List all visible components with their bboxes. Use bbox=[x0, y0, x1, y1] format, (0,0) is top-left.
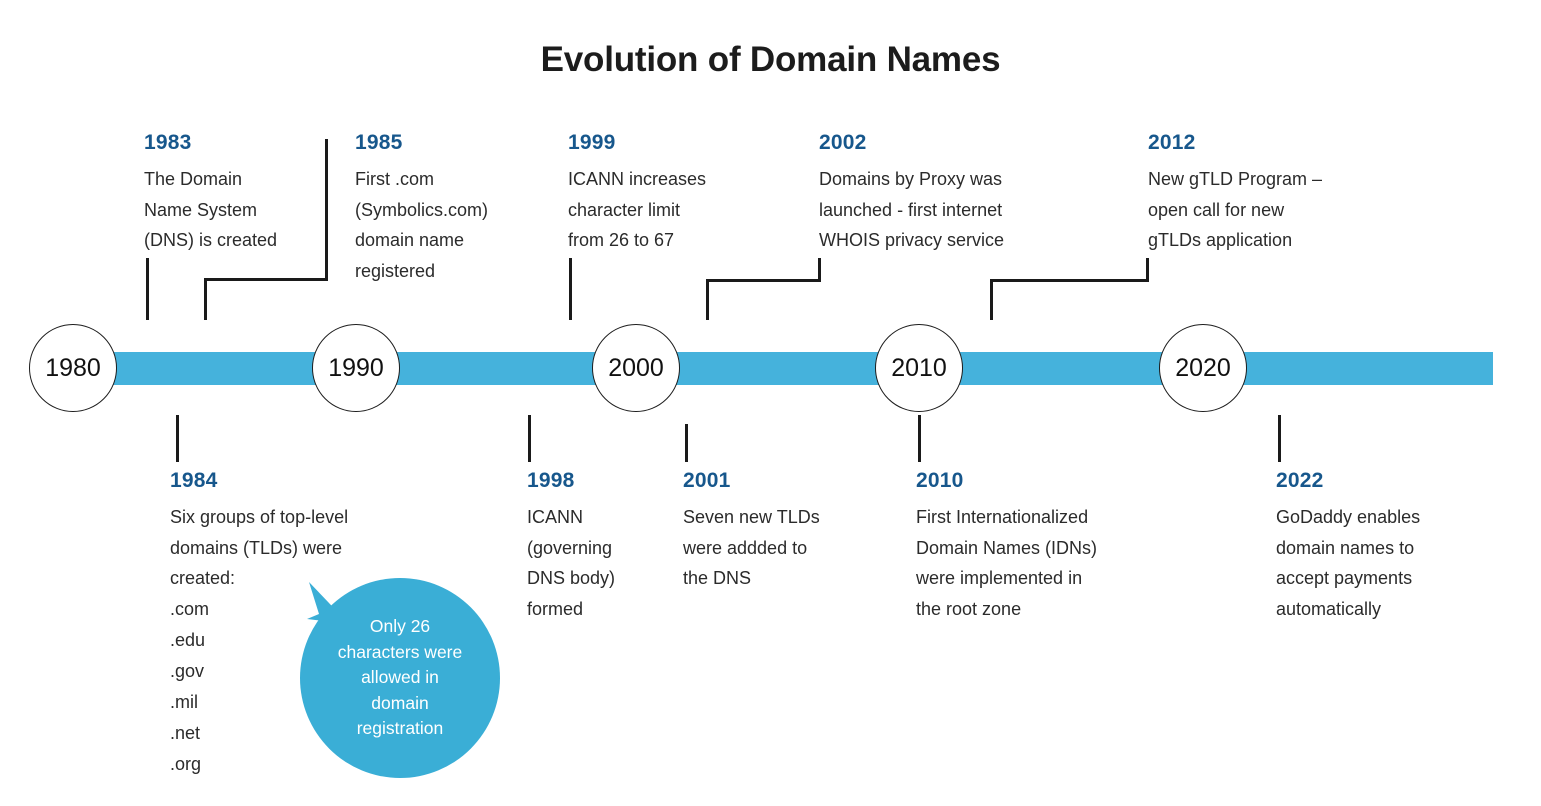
decade-label: 1990 bbox=[328, 354, 384, 383]
event-description: ICANN (governing DNS body) formed bbox=[527, 502, 667, 624]
connector-1985-vertical-top bbox=[325, 139, 328, 281]
decade-label: 2020 bbox=[1175, 354, 1231, 383]
event-year: 1999 bbox=[568, 131, 768, 155]
decade-label: 2010 bbox=[891, 354, 947, 383]
event-2002: 2002 Domains by Proxy was launched - fir… bbox=[819, 131, 1064, 256]
event-1983: 1983 The Domain Name System (DNS) is cre… bbox=[144, 131, 319, 256]
event-description: Domains by Proxy was launched - first in… bbox=[819, 164, 1064, 256]
connector-2010 bbox=[918, 415, 921, 462]
page-title: Evolution of Domain Names bbox=[0, 40, 1541, 80]
event-year: 2002 bbox=[819, 131, 1064, 155]
connector-1985-horizontal bbox=[204, 278, 328, 281]
timeline-rail bbox=[48, 352, 1493, 385]
event-description: The Domain Name System (DNS) is created bbox=[144, 164, 319, 256]
connector-1984 bbox=[176, 415, 179, 462]
event-description: Six groups of top-level domains (TLDs) w… bbox=[170, 502, 400, 594]
connector-1985-vertical-bottom bbox=[204, 278, 207, 320]
event-year: 2010 bbox=[916, 469, 1151, 493]
decade-label: 2000 bbox=[608, 354, 664, 383]
event-year: 2012 bbox=[1148, 131, 1378, 155]
event-description: First Internationalized Domain Names (ID… bbox=[916, 502, 1151, 624]
event-year: 2022 bbox=[1276, 469, 1491, 493]
connector-2022 bbox=[1278, 415, 1281, 462]
event-description: First .com (Symbolics.com) domain name r… bbox=[355, 164, 540, 286]
connector-2002-horizontal bbox=[706, 279, 821, 282]
speech-bubble-callout: Only 26 characters were allowed in domai… bbox=[300, 578, 500, 778]
event-1999: 1999 ICANN increases character limit fro… bbox=[568, 131, 768, 256]
event-year: 1983 bbox=[144, 131, 319, 155]
event-description: GoDaddy enables domain names to accept p… bbox=[1276, 502, 1491, 624]
connector-1999 bbox=[569, 258, 572, 320]
connector-2002-vertical-bottom bbox=[706, 279, 709, 320]
event-2012: 2012 New gTLD Program – open call for ne… bbox=[1148, 131, 1378, 256]
connector-2001 bbox=[685, 424, 688, 462]
connector-2012-vertical-bottom bbox=[990, 279, 993, 320]
decade-marker-1980[interactable]: 1980 bbox=[29, 324, 117, 412]
event-year: 1985 bbox=[355, 131, 540, 155]
connector-1983 bbox=[146, 258, 149, 320]
connector-2012-horizontal bbox=[990, 279, 1149, 282]
infographic-canvas: Evolution of Domain Names 1980 1990 2000… bbox=[0, 0, 1541, 806]
callout-text: Only 26 characters were allowed in domai… bbox=[338, 614, 463, 742]
event-year: 1984 bbox=[170, 469, 400, 493]
decade-label: 1980 bbox=[45, 354, 101, 383]
decade-marker-2000[interactable]: 2000 bbox=[592, 324, 680, 412]
decade-marker-2010[interactable]: 2010 bbox=[875, 324, 963, 412]
event-1985: 1985 First .com (Symbolics.com) domain n… bbox=[355, 131, 540, 286]
connector-1998 bbox=[528, 415, 531, 462]
event-2001: 2001 Seven new TLDs were addded to the D… bbox=[683, 469, 873, 594]
event-year: 2001 bbox=[683, 469, 873, 493]
event-year: 1998 bbox=[527, 469, 667, 493]
decade-marker-1990[interactable]: 1990 bbox=[312, 324, 400, 412]
event-description: New gTLD Program – open call for new gTL… bbox=[1148, 164, 1378, 256]
event-2022: 2022 GoDaddy enables domain names to acc… bbox=[1276, 469, 1491, 624]
event-description: Seven new TLDs were addded to the DNS bbox=[683, 502, 873, 594]
event-description: ICANN increases character limit from 26 … bbox=[568, 164, 768, 256]
decade-marker-2020[interactable]: 2020 bbox=[1159, 324, 1247, 412]
event-1998: 1998 ICANN (governing DNS body) formed bbox=[527, 469, 667, 624]
event-2010: 2010 First Internationalized Domain Name… bbox=[916, 469, 1151, 624]
